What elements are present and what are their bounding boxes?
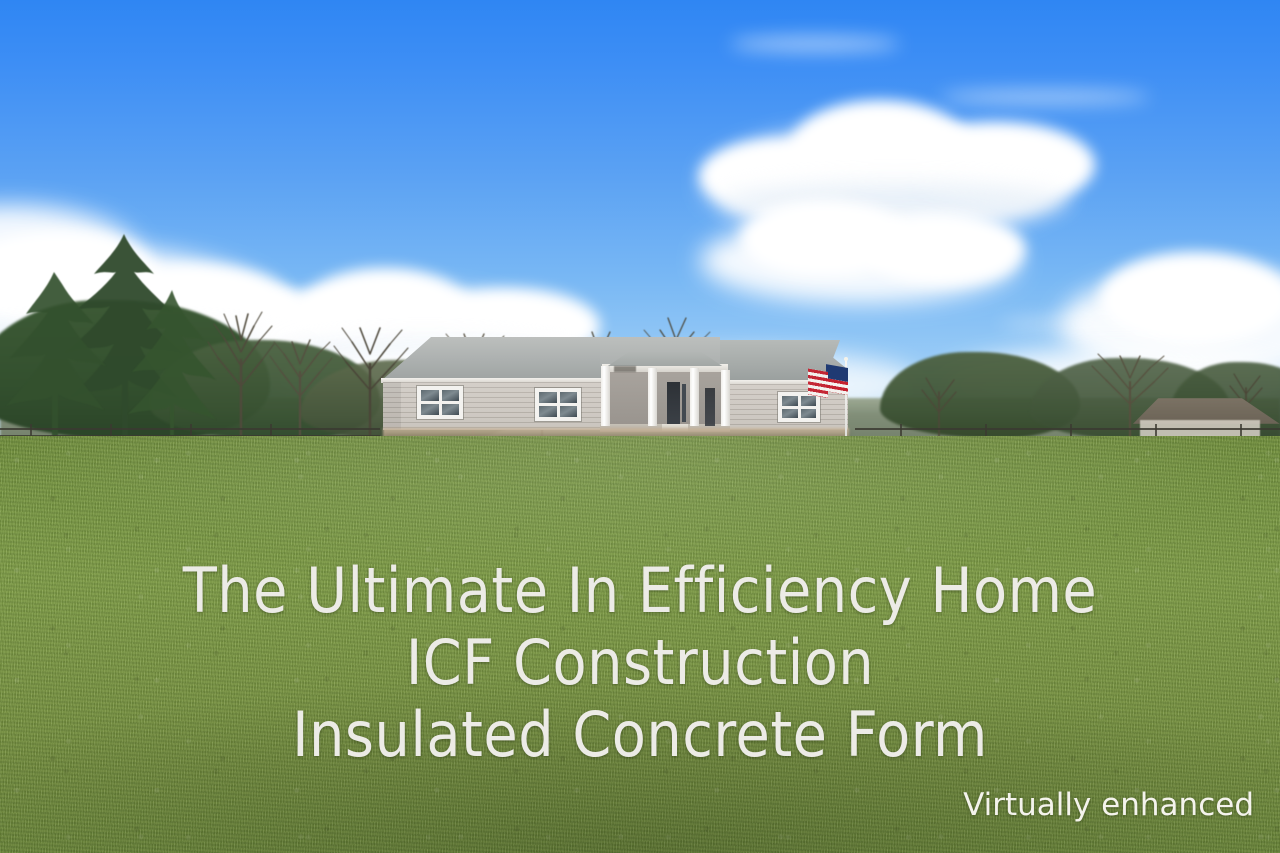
window-left-1-pane-tl [421,390,439,401]
window-right-pane-tl [782,396,798,406]
lawn-shading [0,436,1280,853]
lawn [0,436,1280,853]
flagpole-finial [844,357,848,361]
window-left-2-pane-tl [539,392,557,403]
window-left-1-pane-bl [421,404,439,415]
porch-column-1 [601,366,610,426]
front-door-sidelight [682,384,686,422]
window-left-1-pane-tr [442,390,459,401]
porch-column-4 [721,370,730,426]
window-left-2-pane-tr [560,392,577,403]
front-door [667,382,680,424]
window-right-pane-br [801,409,816,418]
window-left-2-pane-bl [539,406,557,417]
porch-column-2 [648,368,657,426]
window-left-2-pane-br [560,406,577,417]
lawn-texture [0,436,1280,853]
porch-column-3 [690,368,699,426]
photo-canvas: The Ultimate In Efficiency Home ICF Cons… [0,0,1280,853]
house-wall-far-left [383,382,401,430]
window-right-pane-tr [801,396,816,406]
window-right-pane-bl [782,409,798,418]
roof-left-wing [381,337,631,381]
window-left-1-pane-br [442,404,459,415]
side-door [705,388,715,426]
flag-stripes-fly [808,368,828,398]
house-address-numbers [614,366,636,372]
